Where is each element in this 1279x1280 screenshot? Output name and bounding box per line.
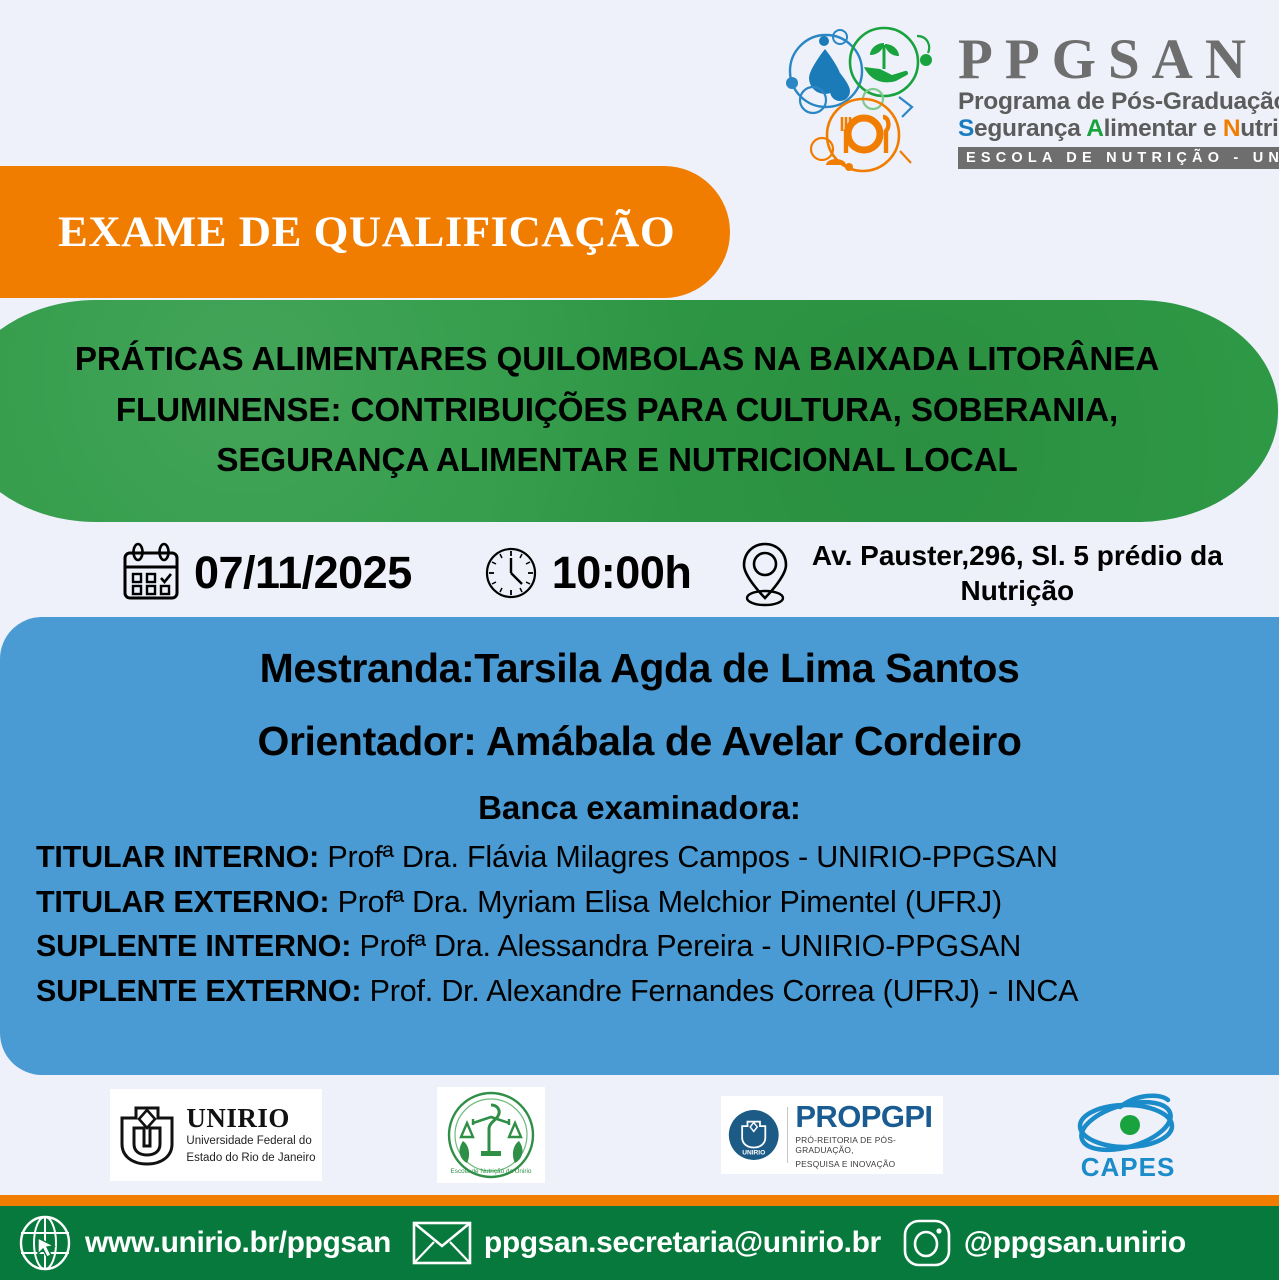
ppgsan-subtitle-line1: Programa de Pós-Graduação em [958, 88, 1279, 115]
orientador-line: Orientador: Amábala de Avelar Cordeiro [26, 718, 1253, 765]
contact-website[interactable]: www.unirio.br/ppgsan [16, 1214, 391, 1272]
banca-row: SUPLENTE INTERNO: Profª Dra. Alessandra … [36, 924, 1253, 969]
banca-title: Banca examinadora: [26, 789, 1253, 827]
ppgsan-a: A [1086, 115, 1103, 142]
unirio-logo: UNIRIO Universidade Federal do Estado do… [110, 1089, 322, 1181]
propgpi-badge-icon: UNIRIO [727, 1105, 780, 1165]
propgpi-sub-line2: PESQUISA E INOVAÇÃO [795, 1159, 937, 1170]
poster-canvas: PPGSAN Programa de Pós-Graduação em Segu… [0, 0, 1279, 1280]
event-info-row: 07/11/2025 10:00h [0, 525, 1279, 620]
ppgsan-utricional: utricional [1240, 115, 1279, 142]
event-date-value: 07/11/2025 [194, 547, 412, 599]
instagram-icon [901, 1217, 953, 1269]
page-title: PRÁTICAS ALIMENTARES QUILOMBOLAS NA BAIX… [28, 335, 1206, 488]
banca-name: Profª Dra. Myriam Elisa Melchior Pimente… [329, 885, 1002, 919]
propgpi-logo: UNIRIO PROPGPI PRÓ-REITORIA DE PÓS-GRADU… [721, 1096, 943, 1174]
propgpi-sub-line1: PRÓ-REITORIA DE PÓS-GRADUAÇÃO, [795, 1135, 937, 1156]
title-block: PRÁTICAS ALIMENTARES QUILOMBOLAS NA BAIX… [0, 300, 1278, 522]
capes-logo: CAPES [1063, 1086, 1193, 1184]
orientador-name: Amábala de Avelar Cordeiro [486, 718, 1022, 764]
event-type-banner: EXAME DE QUALIFICAÇÃO [0, 166, 730, 298]
escola-nutricao-seal-icon: Escola de Nutrição da Unirio [443, 1089, 539, 1181]
footer-divider [0, 1195, 1279, 1206]
map-pin-icon [735, 538, 795, 608]
mestranda-line: Mestranda:Tarsila Agda de Lima Santos [26, 645, 1253, 692]
unirio-wordmark: UNIRIO [186, 1105, 315, 1132]
orientador-label: Orientador: [257, 718, 476, 764]
ppgsan-emblem-icon [778, 25, 950, 175]
contact-instagram-text: @ppgsan.unirio [964, 1226, 1186, 1260]
escola-seal-caption: Escola de Nutrição da Unirio [451, 1168, 532, 1175]
unirio-mark-icon [116, 1102, 178, 1168]
capes-wordmark: CAPES [1081, 1154, 1176, 1180]
banca-list: TITULAR INTERNO: Profª Dra. Flávia Milag… [26, 835, 1253, 1013]
ppgsan-n: N [1223, 115, 1240, 142]
contact-email-text: ppgsan.secretaria@unirio.br [484, 1226, 881, 1260]
event-type-label: EXAME DE QUALIFICAÇÃO [58, 208, 675, 257]
event-date: 07/11/2025 [120, 542, 412, 604]
unirio-logo-text: UNIRIO Universidade Federal do Estado do… [186, 1105, 315, 1165]
ppgsan-logo: PPGSAN Programa de Pós-Graduação em Segu… [778, 22, 1258, 177]
envelope-icon [411, 1218, 473, 1268]
calendar-icon [120, 542, 182, 604]
propgpi-logo-text: PROPGPI PRÓ-REITORIA DE PÓS-GRADUAÇÃO, P… [795, 1101, 937, 1170]
propgpi-divider [787, 1107, 788, 1163]
contact-instagram[interactable]: @ppgsan.unirio [901, 1217, 1186, 1269]
banca-row: TITULAR INTERNO: Profª Dra. Flávia Milag… [36, 835, 1253, 880]
banca-role: TITULAR EXTERNO: [36, 885, 329, 919]
banca-name: Profª Dra. Flávia Milagres Campos - UNIR… [319, 840, 1058, 874]
banca-role: TITULAR INTERNO: [36, 840, 319, 874]
contact-footer: www.unirio.br/ppgsan ppgsan.secretaria@u… [0, 1206, 1279, 1280]
event-time-value: 10:00h [552, 547, 692, 599]
propgpi-badge-text: UNIRIO [742, 1150, 765, 1157]
mestranda-label: Mestranda: [260, 645, 475, 691]
contact-email[interactable]: ppgsan.secretaria@unirio.br [411, 1218, 881, 1268]
ppgsan-s: S [958, 115, 974, 142]
unirio-sub-line2: Estado do Rio de Janeiro [186, 1152, 315, 1166]
contact-website-text: www.unirio.br/ppgsan [85, 1226, 391, 1260]
ppgsan-logo-text: PPGSAN Programa de Pós-Graduação em Segu… [958, 30, 1279, 169]
ppgsan-egur: egurança [974, 115, 1086, 142]
details-panel: Mestranda:Tarsila Agda de Lima Santos Or… [0, 617, 1279, 1075]
ppgsan-acronym: PPGSAN [958, 32, 1279, 88]
banca-row: SUPLENTE EXTERNO: Prof. Dr. Alexandre Fe… [36, 969, 1253, 1014]
propgpi-wordmark: PROPGPI [795, 1101, 937, 1132]
ppgsan-subtitle-line2: Segurança Alimentar e Nutricional [958, 115, 1279, 142]
sponsor-logos: UNIRIO Universidade Federal do Estado do… [0, 1075, 1279, 1195]
unirio-sub-line1: Universidade Federal do [186, 1135, 315, 1149]
ppgsan-school-strip: ESCOLA DE NUTRIÇÃO - UNIRIO [958, 147, 1279, 169]
capes-mark-icon [1068, 1090, 1188, 1156]
globe-icon [16, 1214, 74, 1272]
event-time: 10:00h [482, 544, 692, 602]
event-place: Av. Pauster,296, Sl. 5 prédio da Nutriçã… [735, 538, 1227, 608]
event-place-value: Av. Pauster,296, Sl. 5 prédio da Nutriçã… [807, 538, 1227, 608]
ppgsan-limentar: limentar e [1104, 115, 1223, 142]
mestranda-name: Tarsila Agda de Lima Santos [474, 645, 1019, 691]
escola-nutricao-logo: Escola de Nutrição da Unirio [437, 1087, 545, 1183]
ppgsan-logo-mark [778, 25, 950, 175]
banca-row: TITULAR EXTERNO: Profª Dra. Myriam Elisa… [36, 880, 1253, 925]
banca-name: Profª Dra. Alessandra Pereira - UNIRIO-P… [351, 929, 1021, 963]
clock-icon [482, 544, 540, 602]
banca-role: SUPLENTE EXTERNO: [36, 974, 361, 1008]
banca-name: Prof. Dr. Alexandre Fernandes Correa (UF… [361, 974, 1078, 1008]
banca-role: SUPLENTE INTERNO: [36, 929, 351, 963]
